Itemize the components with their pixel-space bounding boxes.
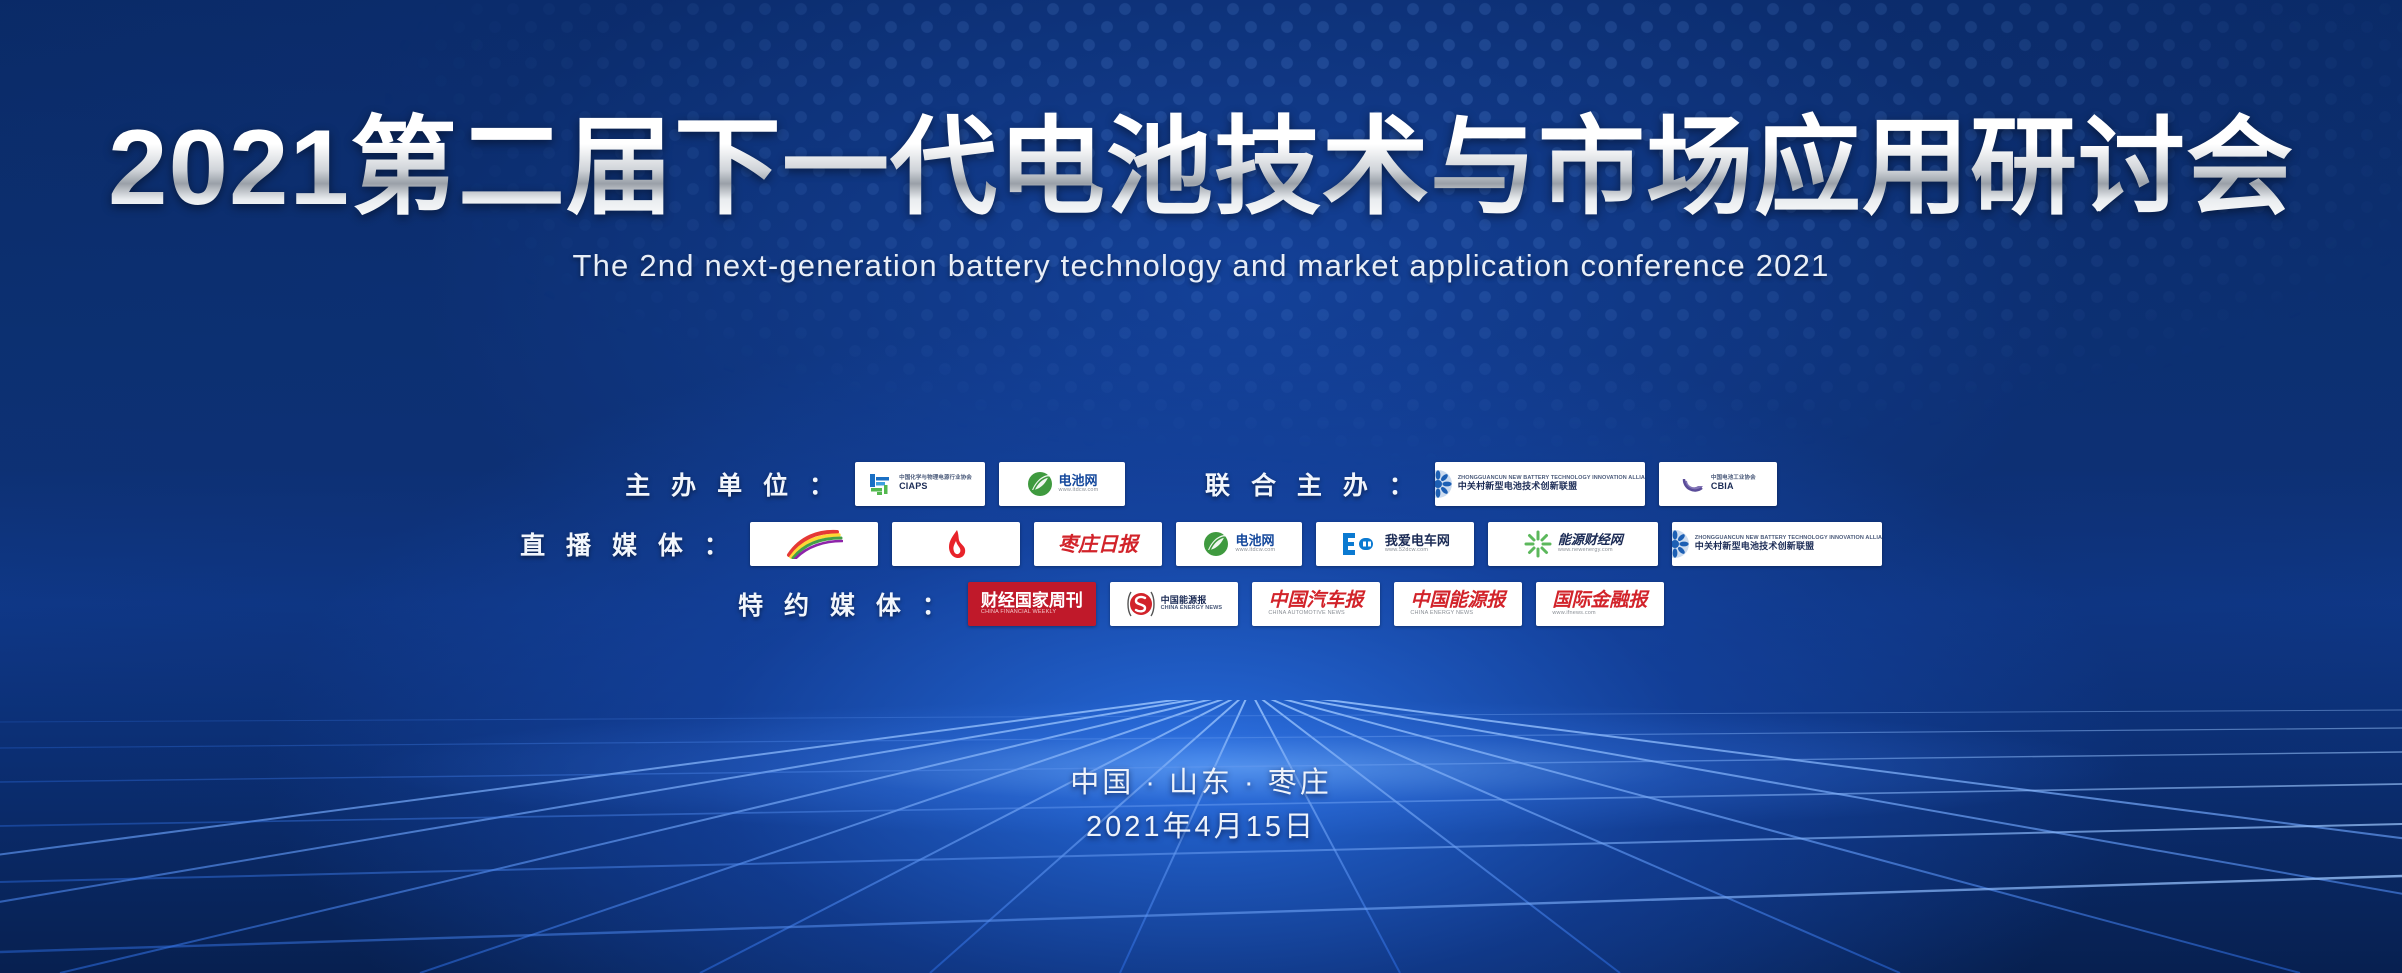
page-subtitle: The 2nd next-generation battery technolo… bbox=[0, 248, 2402, 284]
logo-52dcw-en: www.52dcw.com bbox=[1385, 548, 1450, 554]
logo-china-auto-news-text: 中国汽车报 CHINA AUTOMOTIVE NEWS bbox=[1268, 591, 1363, 617]
logo-itdcw-2-cn: 电池网 bbox=[1235, 534, 1275, 548]
blue-flower-icon bbox=[1435, 469, 1453, 499]
sponsor-section: 主 办 单 位 ： 中国化学与物理电源行业协 bbox=[0, 462, 2402, 626]
special-media-label: 特 约 媒 体 ： bbox=[738, 586, 954, 622]
logo-itdcw-1-text: 电池网 www.itdcw.com bbox=[1059, 474, 1099, 493]
rainbow-swoosh-icon bbox=[785, 529, 843, 559]
purple-arc-icon bbox=[1680, 471, 1706, 497]
green-leaf-icon bbox=[1202, 530, 1230, 558]
logo-itdcw-2[interactable]: 电池网 www.itdcw.com bbox=[1176, 522, 1302, 566]
special-media-logos: 财经国家周刊 CHINA FINANCIAL WEEKLY bbox=[968, 582, 1664, 626]
sponsor-row-organizers: 主 办 单 位 ： 中国化学与物理电源行业协 bbox=[0, 462, 2402, 506]
blue-flower-icon bbox=[1672, 529, 1690, 559]
live-media-logos: 枣庄日报 电池网 www.itdcw.com bbox=[750, 522, 1882, 566]
logo-zgc-alliance-2-cn: 中关村新型电池技术创新联盟 bbox=[1695, 542, 1882, 551]
logo-itdcw-1[interactable]: 电池网 www.itdcw.com bbox=[999, 462, 1125, 506]
logo-zaozhuang-daily[interactable]: 枣庄日报 bbox=[1034, 522, 1162, 566]
page-title: 2021第二届下一代电池技术与市场应用研讨会 bbox=[0, 108, 2402, 228]
logo-china-auto-news[interactable]: 中国汽车报 CHINA AUTOMOTIVE NEWS bbox=[1252, 582, 1380, 626]
logo-zgc-alliance-1-text: ZHONGGUANCUN NEW BATTERY TECHNOLOGY INNO… bbox=[1458, 476, 1645, 491]
logo-caijing-weekly-text: 财经国家周刊 CHINA FINANCIAL WEEKLY bbox=[981, 592, 1083, 616]
logo-newenergy[interactable]: 能源财经网 www.newenergy.com bbox=[1488, 522, 1658, 566]
logo-itdcw-2-text: 电池网 www.itdcw.com bbox=[1235, 534, 1275, 553]
logo-cbia[interactable]: 中国电池工业协会 CBIA bbox=[1659, 462, 1777, 506]
logo-china-energy-news-2-text: 中国能源报 CHINA ENERGY NEWS bbox=[1410, 591, 1505, 617]
logo-china-energy-news-2-cn: 中国能源报 bbox=[1410, 591, 1505, 611]
logo-itdcw-1-en: www.itdcw.com bbox=[1059, 488, 1099, 494]
green-spark-icon bbox=[1523, 529, 1553, 559]
event-footer: 中国 · 山东 · 枣庄 2021年4月15日 bbox=[0, 762, 2402, 849]
logo-newenergy-en: www.newenergy.com bbox=[1558, 548, 1623, 554]
logo-china-auto-news-cn: 中国汽车报 bbox=[1268, 591, 1363, 611]
logo-china-auto-news-en: CHINA AUTOMOTIVE NEWS bbox=[1268, 611, 1363, 617]
logo-zaozhuang-daily-text: 枣庄日报 bbox=[1058, 534, 1138, 555]
organizer-label: 主 办 单 位 ： bbox=[625, 466, 841, 502]
logo-caijing-weekly-en: CHINA FINANCIAL WEEKLY bbox=[981, 610, 1083, 616]
logo-international-finance-news-cn: 国际金融报 bbox=[1552, 591, 1647, 611]
blue-green-bars-icon bbox=[868, 471, 894, 497]
conference-banner: 2021第二届下一代电池技术与市场应用研讨会 The 2nd next-gene… bbox=[0, 0, 2402, 973]
title-block: 2021第二届下一代电池技术与市场应用研讨会 The 2nd next-gene… bbox=[0, 108, 2402, 284]
logo-52dcw[interactable]: 我爱电车网 www.52dcw.com bbox=[1316, 522, 1474, 566]
logo-ciaps-en: CIAPS bbox=[899, 482, 972, 491]
logo-caijing-weekly[interactable]: 财经国家周刊 CHINA FINANCIAL WEEKLY bbox=[968, 582, 1096, 626]
logo-itdcw-2-en: www.itdcw.com bbox=[1235, 548, 1275, 554]
organizer-logos: 中国化学与物理电源行业协会 CIAPS 电池网 www.it bbox=[855, 462, 1125, 506]
logo-newenergy-cn: 能源财经网 bbox=[1558, 534, 1623, 548]
logo-international-finance-news-en: www.ifnews.com bbox=[1552, 611, 1647, 617]
logo-international-finance-news[interactable]: 国际金融报 www.ifnews.com bbox=[1536, 582, 1664, 626]
logo-china-energy-news-1-en: CHINA ENERGY NEWS bbox=[1161, 606, 1223, 612]
event-date: 2021年4月15日 bbox=[0, 806, 2402, 850]
logo-ciaps-text: 中国化学与物理电源行业协会 CIAPS bbox=[899, 476, 972, 491]
live-media-label: 直 播 媒 体 ： bbox=[520, 526, 736, 562]
logo-china-energy-news-2[interactable]: 中国能源报 CHINA ENERGY NEWS bbox=[1394, 582, 1522, 626]
logo-ifeng[interactable] bbox=[750, 522, 878, 566]
co-organizer-logos: ZHONGGUANCUN NEW BATTERY TECHNOLOGY INNO… bbox=[1435, 462, 1777, 506]
logo-zgc-alliance-1-cn: 中关村新型电池技术创新联盟 bbox=[1458, 482, 1645, 491]
logo-52dcw-text: 我爱电车网 www.52dcw.com bbox=[1385, 534, 1450, 553]
logo-sina[interactable] bbox=[892, 522, 1020, 566]
logo-china-energy-news-1-text: 中国能源报 CHINA ENERGY NEWS bbox=[1161, 596, 1223, 611]
event-location: 中国 · 山东 · 枣庄 bbox=[0, 762, 2402, 806]
logo-zgc-alliance-2[interactable]: ZHONGGUANCUN NEW BATTERY TECHNOLOGY INNO… bbox=[1672, 522, 1882, 566]
co-organizer-label: 联 合 主 办 ： bbox=[1205, 466, 1421, 502]
logo-china-energy-news-2-en: CHINA ENERGY NEWS bbox=[1410, 611, 1505, 617]
sponsor-row-special-media: 特 约 媒 体 ： 财经国家周刊 CHINA FINANCIAL WEEKLY bbox=[0, 582, 2402, 626]
logo-china-energy-news-1[interactable]: 中国能源报 CHINA ENERGY NEWS bbox=[1110, 582, 1238, 626]
logo-cbia-en: CBIA bbox=[1711, 482, 1756, 491]
logo-52dcw-cn: 我爱电车网 bbox=[1385, 534, 1450, 548]
s-circle-icon bbox=[1126, 589, 1156, 619]
logo-ciaps[interactable]: 中国化学与物理电源行业协会 CIAPS bbox=[855, 462, 985, 506]
green-leaf-icon bbox=[1026, 470, 1054, 498]
logo-international-finance-news-text: 国际金融报 www.ifnews.com bbox=[1552, 591, 1647, 617]
logo-newenergy-text: 能源财经网 www.newenergy.com bbox=[1558, 534, 1623, 553]
sponsor-row-live-media: 直 播 媒 体 ： bbox=[0, 522, 2402, 566]
logo-zgc-alliance-1[interactable]: ZHONGGUANCUN NEW BATTERY TECHNOLOGY INNO… bbox=[1435, 462, 1645, 506]
logo-cbia-text: 中国电池工业协会 CBIA bbox=[1711, 476, 1756, 491]
red-flame-icon bbox=[940, 528, 972, 560]
logo-zaozhuang-daily-cn: 枣庄日报 bbox=[1058, 534, 1138, 555]
blue-plug-icon bbox=[1340, 530, 1380, 558]
logo-caijing-weekly-cn: 财经国家周刊 bbox=[981, 592, 1083, 610]
logo-zgc-alliance-2-text: ZHONGGUANCUN NEW BATTERY TECHNOLOGY INNO… bbox=[1695, 536, 1882, 551]
logo-itdcw-1-cn: 电池网 bbox=[1059, 474, 1099, 488]
